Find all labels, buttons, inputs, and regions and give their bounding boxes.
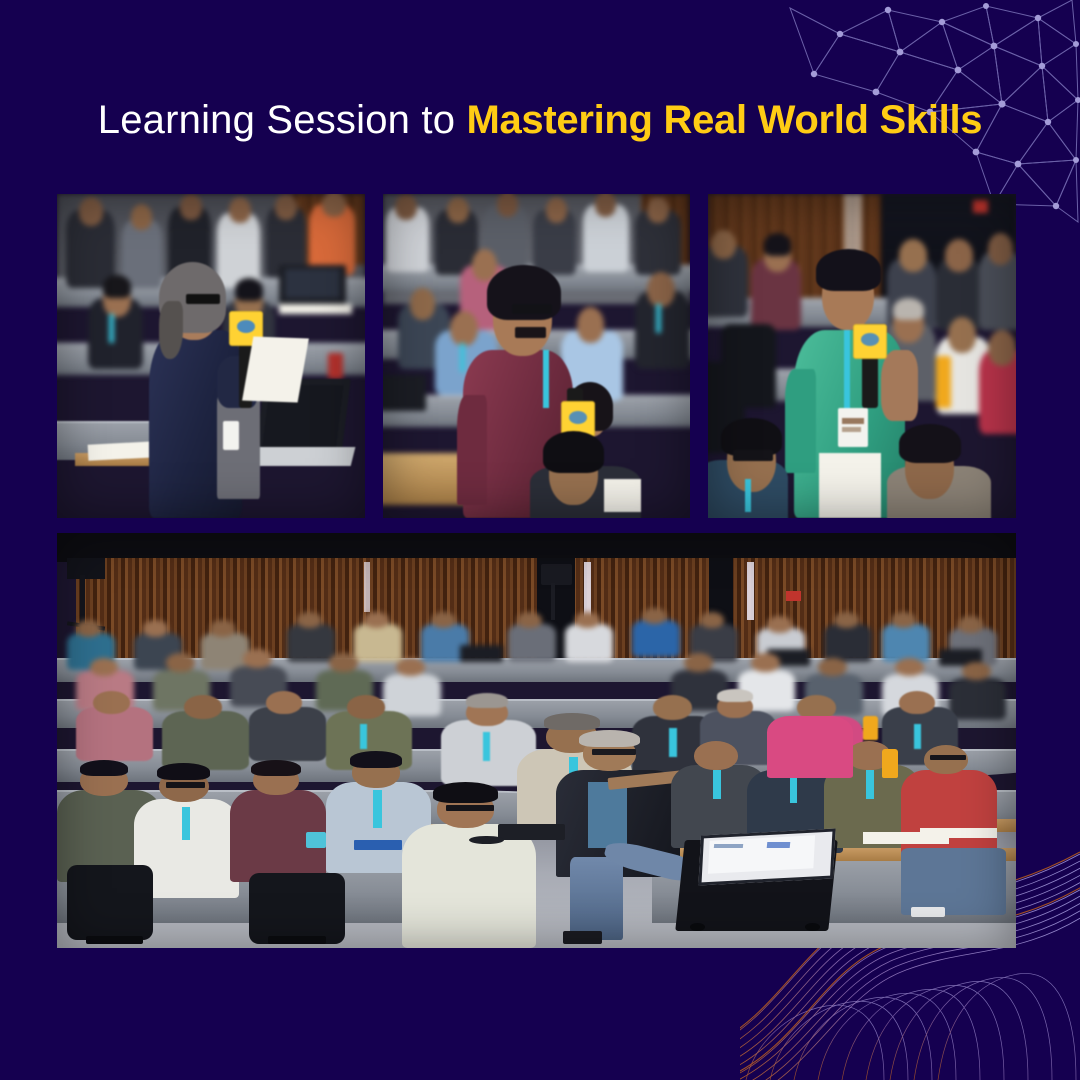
title-accent-text: Mastering Real World Skills bbox=[466, 98, 982, 142]
photo-attendee-maroon-shirt: Man in maroon polo shirt with glasses an… bbox=[383, 194, 691, 518]
title-plain-text: Learning Session to bbox=[98, 98, 467, 142]
page-title: Learning Session to Mastering Real World… bbox=[0, 98, 1080, 143]
photo-speaker-woman-mic: Woman with glasses and curly grey hair s… bbox=[57, 194, 365, 518]
photo-attendee-green-shirt: Man in a green polo shirt wearing a conf… bbox=[708, 194, 1016, 518]
photo-lecture-hall-wide: Wide view of a tiered auditorium classro… bbox=[57, 533, 1016, 948]
photo-grid-top-row: Woman with glasses and curly grey hair s… bbox=[57, 194, 1016, 518]
